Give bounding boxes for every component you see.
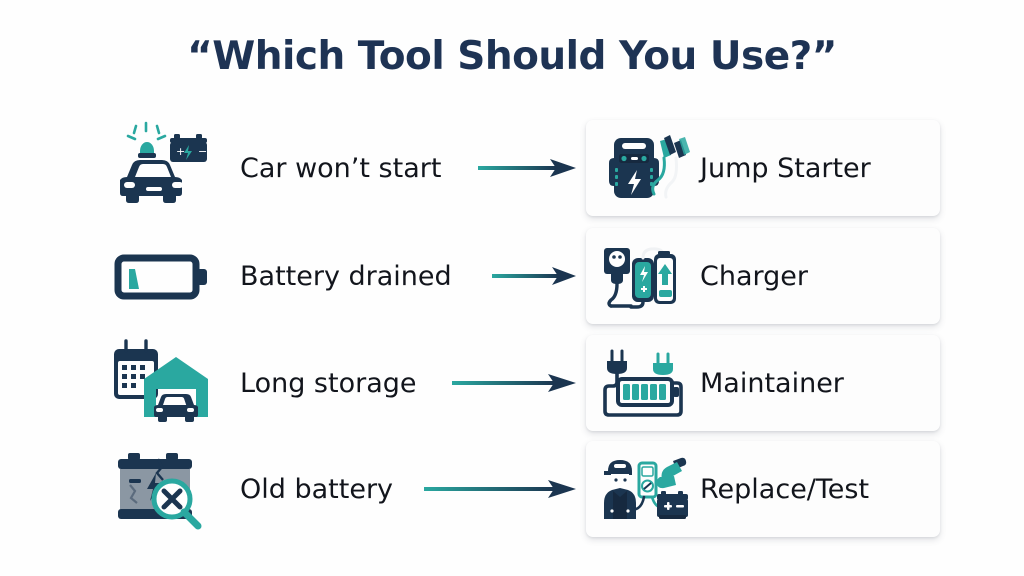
decision-row: Long storage	[0, 335, 1024, 431]
arrow-right-icon	[424, 441, 578, 537]
mechanic-multimeter-battery-icon	[600, 453, 696, 525]
solution-card[interactable]: Replace/Test	[586, 441, 940, 537]
calendar-garage-car-icon	[110, 335, 226, 431]
problem-label: Long storage	[240, 335, 417, 431]
solution-label: Maintainer	[700, 368, 844, 399]
decision-row: Old battery	[0, 441, 1024, 537]
jump-starter-icon	[600, 132, 696, 204]
problem-label: Battery drained	[240, 228, 452, 324]
decision-row: Battery drained	[0, 228, 1024, 324]
arrow-right-icon	[452, 335, 578, 431]
old-battery-inspect-icon	[110, 441, 226, 537]
problem-label: Old battery	[240, 441, 393, 537]
maintainer-plug-battery-icon	[600, 347, 696, 419]
svg-text:−: −	[198, 145, 207, 158]
decision-row: + − Car won’t start	[0, 120, 1024, 216]
arrow-right-icon	[492, 228, 578, 324]
solution-label: Replace/Test	[700, 474, 869, 505]
problem-label: Car won’t start	[240, 120, 441, 216]
solution-card[interactable]: Charger	[586, 228, 940, 324]
car-warning-battery-icon: + −	[110, 120, 226, 216]
solution-card[interactable]: Maintainer	[586, 335, 940, 431]
arrow-right-icon	[478, 120, 578, 216]
solution-label: Charger	[700, 261, 808, 292]
charger-plug-battery-icon	[600, 240, 696, 312]
page-title: “Which Tool Should You Use?”	[0, 34, 1024, 79]
svg-text:+: +	[176, 145, 185, 158]
solution-card[interactable]: Jump Starter	[586, 120, 940, 216]
low-battery-icon	[110, 228, 226, 324]
infographic-page: “Which Tool Should You Use?”	[0, 0, 1024, 576]
solution-label: Jump Starter	[700, 153, 871, 184]
